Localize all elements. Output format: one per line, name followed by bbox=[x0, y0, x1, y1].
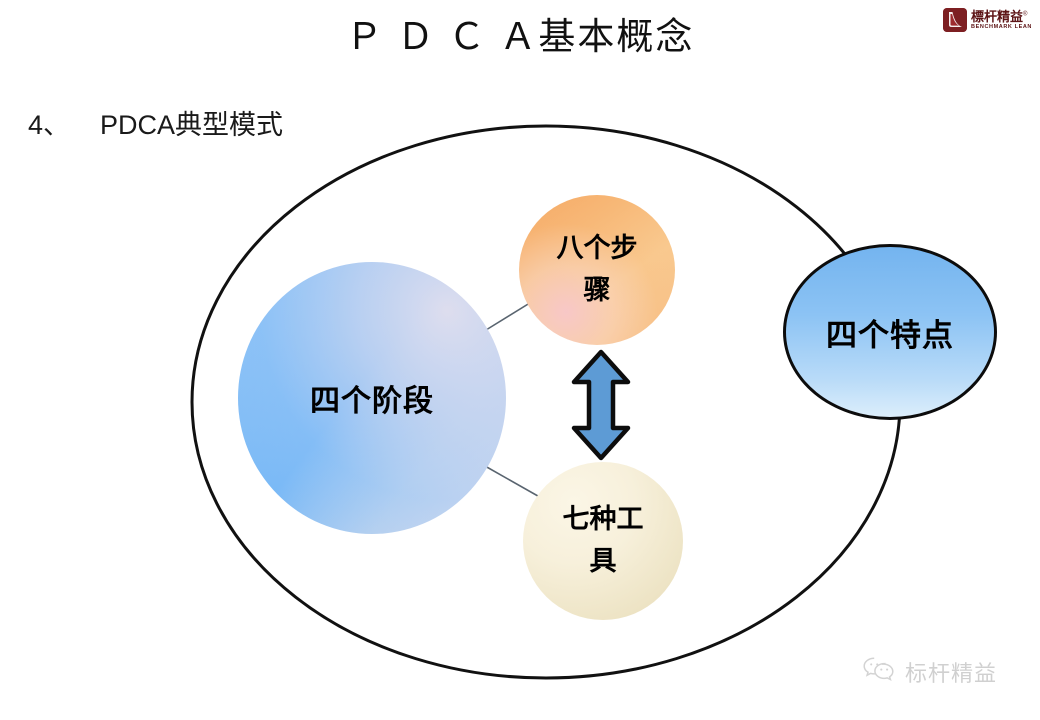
bubble-eight-steps[interactable]: 八个步 骤 bbox=[519, 195, 675, 345]
double-arrow-icon bbox=[574, 352, 628, 458]
bubble-four-stages[interactable]: 四个阶段 bbox=[238, 262, 506, 534]
bubble-eight-steps-label: 八个步 骤 bbox=[547, 228, 648, 312]
bubble-four-features[interactable]: 四个特点 bbox=[783, 244, 997, 420]
watermark-label: 标杆精益 bbox=[905, 656, 997, 688]
bubble-four-stages-label: 四个阶段 bbox=[300, 376, 444, 420]
wechat-icon bbox=[862, 655, 896, 688]
footer-watermark: 标杆精益 bbox=[862, 655, 997, 688]
bubble-four-features-label: 四个特点 bbox=[816, 310, 964, 355]
slide-canvas: Ｐ Ｄ Ｃ Ａ基本概念 標杆精益® BENCHMARK LEAN 4、 PDCA… bbox=[0, 0, 1040, 720]
bubble-seven-tools-label: 七种工 具 bbox=[553, 499, 654, 583]
bubble-seven-tools[interactable]: 七种工 具 bbox=[523, 462, 683, 620]
